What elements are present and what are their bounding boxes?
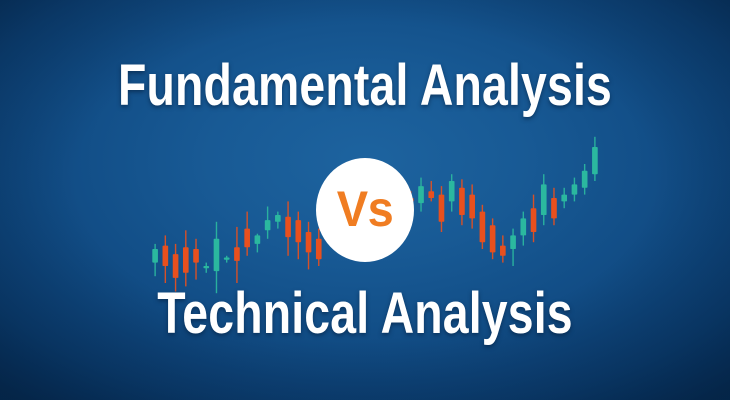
candle-body: [193, 249, 199, 263]
candle-body: [234, 247, 240, 261]
candle-body: [295, 220, 301, 242]
candle-body: [551, 198, 557, 218]
candle-body: [561, 195, 567, 202]
candle-body: [439, 195, 445, 222]
candle-body: [163, 246, 169, 266]
vs-badge-label: Vs: [337, 184, 394, 234]
candle-body: [224, 258, 230, 260]
candle-body: [469, 195, 475, 219]
candle-body: [520, 218, 526, 235]
candle-body: [214, 239, 220, 271]
candle-body: [531, 208, 537, 232]
candle-body: [572, 184, 578, 194]
candle-body: [203, 266, 209, 268]
candle-body: [582, 171, 588, 188]
candle-body: [480, 212, 486, 243]
candle-body: [255, 235, 261, 244]
candle-body: [265, 220, 271, 230]
candle-body: [244, 229, 250, 248]
candle-body: [541, 184, 547, 215]
candle-body: [500, 246, 506, 256]
page-title-top: Fundamental Analysis: [73, 57, 657, 115]
candle-body: [316, 239, 322, 259]
candle-body: [183, 247, 189, 272]
candle-body: [152, 249, 158, 263]
candle-body: [285, 217, 291, 237]
candle-body: [173, 254, 179, 278]
vs-badge: Vs: [316, 158, 414, 262]
page-title-bottom: Technical Analysis: [73, 285, 657, 343]
candle-body: [306, 232, 312, 252]
candle-body: [490, 225, 496, 252]
candle-body: [275, 215, 281, 222]
candle-body: [510, 235, 516, 249]
candle-body: [418, 186, 424, 203]
candle-body: [449, 181, 455, 201]
candle-body: [459, 188, 465, 215]
candle-body: [592, 147, 598, 174]
graphic-canvas: Fundamental Analysis Vs Technical Analys…: [0, 0, 730, 400]
candle-body: [428, 191, 434, 198]
